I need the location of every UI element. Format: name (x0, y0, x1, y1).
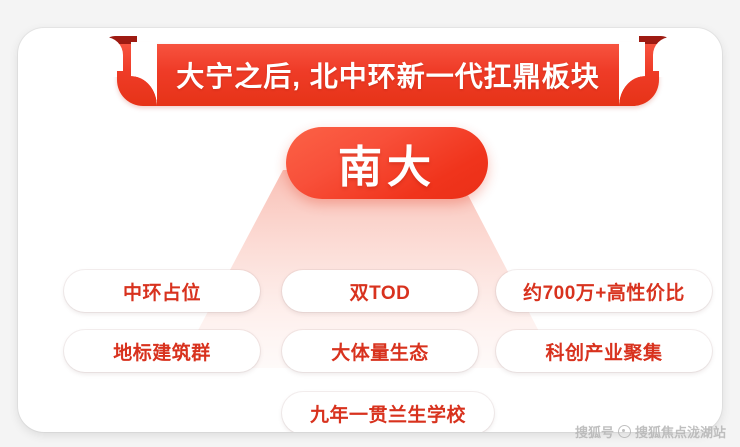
feature-pill: 约700万+高性价比 (496, 270, 712, 312)
infographic-card: 大宁之后, 北中环新一代扛鼎板块 南大 中环占位 双TOD 约700万+高性价比… (18, 28, 722, 432)
header-ribbon: 大宁之后, 北中环新一代扛鼎板块 (103, 32, 673, 108)
feature-pill-label: 约700万+高性价比 (523, 278, 685, 305)
feature-pill: 科创产业聚集 (496, 330, 712, 372)
feature-pill: 大体量生态 (282, 330, 478, 372)
feature-pill: 九年一贯兰生学校 (282, 392, 494, 432)
feature-pill-label: 中环占位 (123, 278, 201, 305)
feature-pill: 双TOD (282, 270, 478, 312)
feature-pill-label: 地标建筑群 (113, 338, 211, 365)
feature-pill-label: 科创产业聚集 (545, 338, 662, 365)
feature-pill-label: 双TOD (350, 278, 411, 305)
central-badge: 南大 (286, 127, 488, 199)
feature-pill: 中环占位 (64, 270, 260, 312)
feature-pill-label: 九年一贯兰生学校 (310, 400, 466, 427)
banner-title: 大宁之后, 北中环新一代扛鼎板块 (117, 44, 659, 106)
watermark: 搜狐号 搜狐焦点泷湖站 (575, 422, 726, 441)
watermark-prefix: 搜狐号 (575, 422, 614, 441)
watermark-source: 搜狐焦点泷湖站 (635, 422, 726, 441)
screenshot-root: 大宁之后, 北中环新一代扛鼎板块 南大 中环占位 双TOD 约700万+高性价比… (0, 0, 740, 447)
feature-pill-label: 大体量生态 (331, 338, 429, 365)
at-sign-icon (618, 425, 631, 438)
central-badge-label: 南大 (338, 131, 436, 195)
feature-pill: 地标建筑群 (64, 330, 260, 372)
